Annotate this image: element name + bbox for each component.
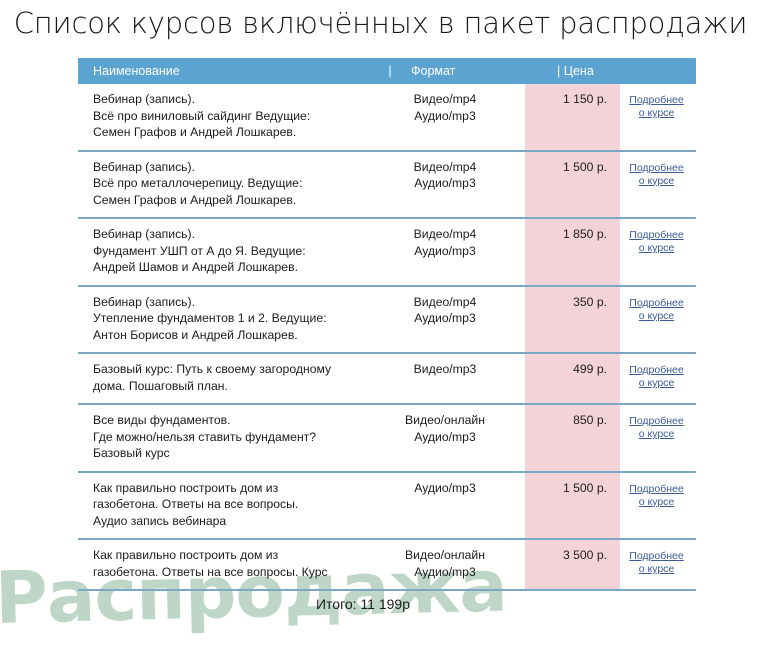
- format-line: Аудио/mp3: [368, 108, 522, 125]
- course-name-line: Базовый курс: [93, 445, 364, 462]
- table-row: Как правильно построить дом изгазобетона…: [78, 471, 696, 539]
- table-row: Как правильно построить дом изгазобетона…: [78, 538, 696, 589]
- cell-price: 1 500 р.: [522, 152, 617, 185]
- cell-details-link: Подробнеео курсе: [617, 287, 696, 333]
- cell-format: Видео/mp4Аудио/mp3: [368, 287, 522, 336]
- table-row: Вебинар (запись).Фундамент УШП от А до Я…: [78, 217, 696, 285]
- cell-details-link: Подробнеео курсе: [617, 84, 696, 130]
- details-link-line: Подробнее: [629, 94, 683, 107]
- cell-format: Видео/онлайнАудио/mp3: [368, 540, 522, 589]
- cell-details-link: Подробнеео курсе: [617, 540, 696, 586]
- table-row: Вебинар (запись).Всё про металлочерепицу…: [78, 150, 696, 218]
- format-line: Видео/mp4: [368, 226, 522, 243]
- table-row: Все виды фундаментов.Где можно/нельзя ст…: [78, 403, 696, 471]
- course-name-line: Утепление фундаментов 1 и 2. Ведущие:: [93, 310, 364, 327]
- course-name-line: Все виды фундаментов.: [93, 412, 364, 429]
- course-name-line: Вебинар (запись).: [93, 159, 364, 176]
- column-header-separator: |: [383, 64, 397, 78]
- cell-price: 350 р.: [522, 287, 617, 320]
- format-line: Аудио/mp3: [368, 564, 522, 581]
- table-row: Вебинар (запись).Утепление фундаментов 1…: [78, 285, 696, 353]
- format-line: Аудио/mp3: [368, 310, 522, 327]
- course-name-line: Семен Графов и Андрей Лошкарев.: [93, 192, 364, 209]
- page-title: Список курсов включённых в пакет распрод…: [0, 6, 761, 40]
- cell-course-name: Вебинар (запись).Всё про виниловый сайди…: [78, 84, 368, 150]
- cell-details-link: Подробнеео курсе: [617, 219, 696, 265]
- course-details-link[interactable]: Подробнеео курсе: [629, 550, 683, 576]
- cell-course-name: Все виды фундаментов.Где можно/нельзя ст…: [78, 405, 368, 471]
- cell-format: Видео/mp4Аудио/mp3: [368, 84, 522, 133]
- format-line: Видео/онлайн: [368, 412, 522, 429]
- course-name-line: Фундамент УШП от А до Я. Ведущие:: [93, 243, 364, 260]
- course-details-link[interactable]: Подробнеео курсе: [629, 297, 683, 323]
- cell-course-name: Как правильно построить дом изгазобетона…: [78, 473, 368, 539]
- format-line: Аудио/mp3: [368, 429, 522, 446]
- details-link-line: о курсе: [629, 310, 683, 323]
- course-details-link[interactable]: Подробнеео курсе: [629, 229, 683, 255]
- cell-format: Видео/mp4Аудио/mp3: [368, 219, 522, 268]
- cell-format: Видео/онлайнАудио/mp3: [368, 405, 522, 454]
- cell-price: 1 150 р.: [522, 84, 617, 117]
- course-details-link[interactable]: Подробнеео курсе: [629, 483, 683, 509]
- cell-price: 850 р.: [522, 405, 617, 438]
- cell-format: Видео/mp4Аудио/mp3: [368, 152, 522, 201]
- cell-details-link: Подробнеео курсе: [617, 473, 696, 519]
- details-link-line: Подробнее: [629, 229, 683, 242]
- course-name-line: Всё про металлочерепицу. Ведущие:: [93, 175, 364, 192]
- details-link-line: Подробнее: [629, 415, 683, 428]
- format-line: Аудио/mp3: [368, 243, 522, 260]
- details-link-line: Подробнее: [629, 162, 683, 175]
- cell-price: 3 500 р.: [522, 540, 617, 573]
- course-name-line: Вебинар (запись).: [93, 226, 364, 243]
- cell-details-link: Подробнеео курсе: [617, 354, 696, 400]
- format-line: Видео/mp4: [368, 294, 522, 311]
- details-link-line: Подробнее: [629, 550, 683, 563]
- details-link-line: о курсе: [629, 242, 683, 255]
- details-link-line: о курсе: [629, 496, 683, 509]
- course-name-line: Вебинар (запись).: [93, 294, 364, 311]
- format-line: Видео/mp3: [368, 361, 522, 378]
- cell-course-name: Базовый курс: Путь к своему загородномуд…: [78, 354, 368, 403]
- course-details-link[interactable]: Подробнеео курсе: [629, 364, 683, 390]
- course-name-line: Всё про виниловый сайдинг Ведущие:: [93, 108, 364, 125]
- course-name-line: Как правильно построить дом из: [93, 547, 364, 564]
- format-line: Видео/mp4: [368, 91, 522, 108]
- course-details-link[interactable]: Подробнеео курсе: [629, 94, 683, 120]
- course-name-line: Вебинар (запись).: [93, 91, 364, 108]
- cell-price: 1 850 р.: [522, 219, 617, 252]
- cell-format: Видео/mp3: [368, 354, 522, 387]
- course-name-line: газобетона. Ответы на все вопросы. Курс: [93, 564, 364, 581]
- course-name-line: Как правильно построить дом из: [93, 480, 364, 497]
- details-link-line: Подробнее: [629, 297, 683, 310]
- details-link-line: о курсе: [629, 107, 683, 120]
- format-line: Аудио/mp3: [368, 175, 522, 192]
- table-body: Вебинар (запись).Всё про виниловый сайди…: [78, 84, 696, 589]
- course-name-line: дома. Пошаговый план.: [93, 378, 364, 395]
- column-header-name: Наименование: [78, 64, 383, 78]
- course-details-link[interactable]: Подробнеео курсе: [629, 162, 683, 188]
- details-link-line: о курсе: [629, 377, 683, 390]
- cell-course-name: Вебинар (запись).Утепление фундаментов 1…: [78, 287, 368, 353]
- table-row: Вебинар (запись).Всё про виниловый сайди…: [78, 84, 696, 150]
- column-header-format: Формат: [397, 64, 551, 78]
- cell-details-link: Подробнеео курсе: [617, 152, 696, 198]
- course-list-table: Наименование | Формат | Цена Вебинар (за…: [78, 58, 696, 612]
- details-link-line: о курсе: [629, 563, 683, 576]
- table-header-row: Наименование | Формат | Цена: [78, 58, 696, 84]
- cell-price: 1 500 р.: [522, 473, 617, 506]
- table-bottom-rule: [78, 589, 696, 591]
- course-name-line: Где можно/нельзя ставить фундамент?: [93, 429, 364, 446]
- format-line: Видео/mp4: [368, 159, 522, 176]
- format-line: Аудио/mp3: [368, 480, 522, 497]
- cell-format: Аудио/mp3: [368, 473, 522, 506]
- cell-price: 499 р.: [522, 354, 617, 387]
- course-name-line: Антон Борисов и Андрей Лошкарев.: [93, 327, 364, 344]
- cell-details-link: Подробнеео курсе: [617, 405, 696, 451]
- course-name-line: Семен Графов и Андрей Лошкарев.: [93, 124, 364, 141]
- details-link-line: Подробнее: [629, 483, 683, 496]
- cell-course-name: Вебинар (запись).Фундамент УШП от А до Я…: [78, 219, 368, 285]
- details-link-line: Подробнее: [629, 364, 683, 377]
- total-amount: Итого: 11 199р: [78, 596, 696, 612]
- details-link-line: о курсе: [629, 428, 683, 441]
- course-name-line: Базовый курс: Путь к своему загородному: [93, 361, 364, 378]
- course-details-link[interactable]: Подробнеео курсе: [629, 415, 683, 441]
- details-link-line: о курсе: [629, 175, 683, 188]
- course-name-line: Аудио запись вебинара: [93, 513, 364, 530]
- cell-course-name: Как правильно построить дом изгазобетона…: [78, 540, 368, 589]
- format-line: Видео/онлайн: [368, 547, 522, 564]
- cell-course-name: Вебинар (запись).Всё про металлочерепицу…: [78, 152, 368, 218]
- table-row: Базовый курс: Путь к своему загородномуд…: [78, 352, 696, 403]
- column-header-price: | Цена: [551, 64, 637, 78]
- course-name-line: газобетона. Ответы на все вопросы.: [93, 496, 364, 513]
- course-name-line: Андрей Шамов и Андрей Лошкарев.: [93, 259, 364, 276]
